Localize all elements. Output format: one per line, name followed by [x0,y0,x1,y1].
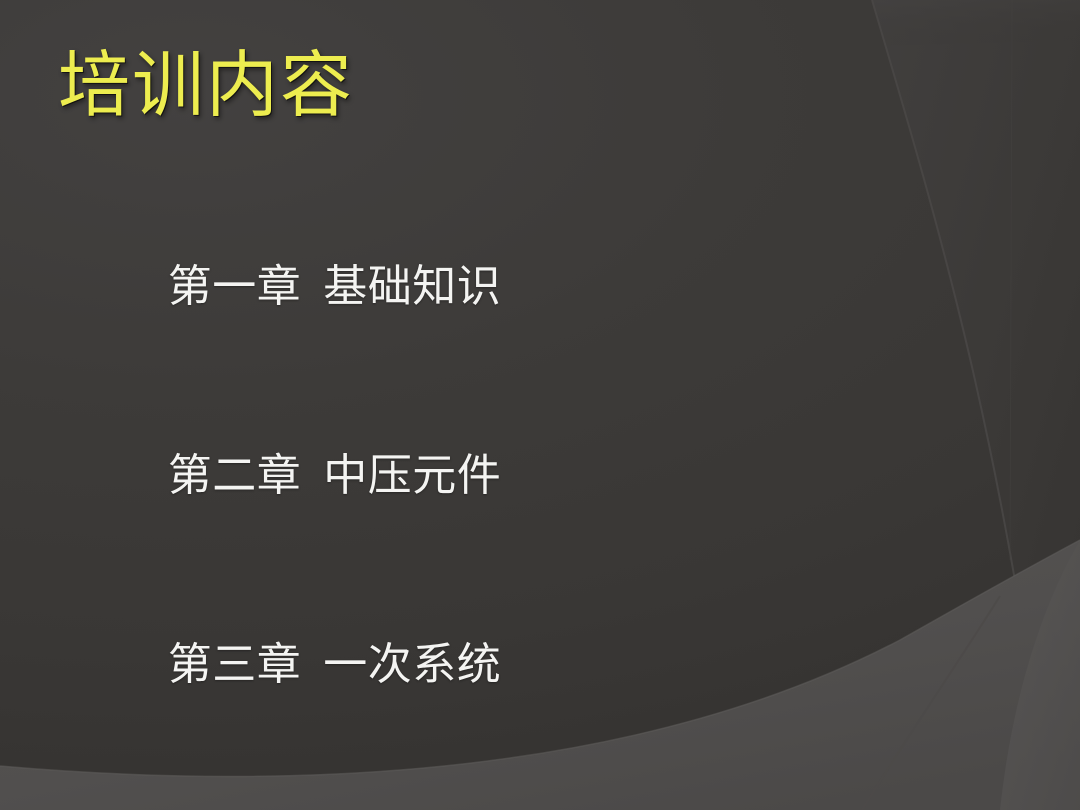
slide-title: 培训内容 [58,46,354,125]
list-item: 第三章一次系统 [66,570,590,759]
chapter-title: 中压元件 [323,451,501,500]
chapter-list: 第一章基础知识 第二章中压元件 第三章一次系统 第四章常见问题说明 [66,192,590,810]
chapter-title: 基础知识 [323,262,501,311]
list-item: 第一章基础知识 [66,192,590,381]
chapter-label: 第二章 [168,451,302,500]
presentation-slide: 培训内容 第一章基础知识 第二章中压元件 第三章一次系统 第四章常见问题说明 [0,0,1080,810]
list-item: 第二章中压元件 [66,381,590,570]
chapter-title: 一次系统 [323,640,501,689]
chapter-label: 第一章 [168,262,302,311]
slide-content: 培训内容 第一章基础知识 第二章中压元件 第三章一次系统 第四章常见问题说明 [0,0,1080,810]
list-item: 第四章常见问题说明 [66,759,590,810]
chapter-label: 第三章 [168,640,302,689]
